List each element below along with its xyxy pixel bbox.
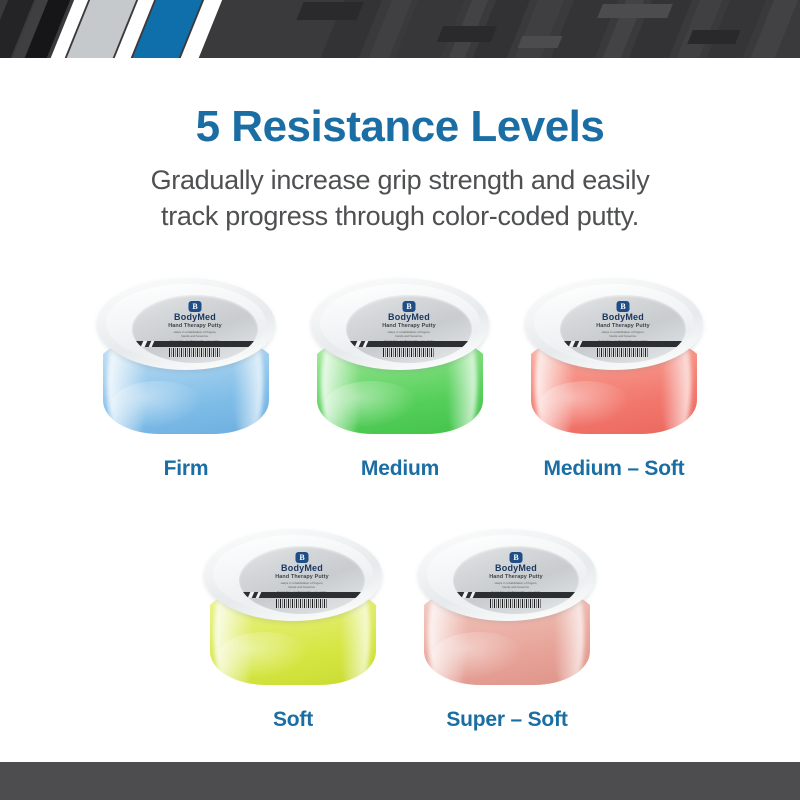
tub-rim-inner: B BodyMed Hand Therapy Putty Helps in re…: [320, 284, 480, 362]
putty-container-firm: B BodyMed Hand Therapy Putty Helps in re…: [97, 272, 275, 445]
barcode-icon: [383, 348, 435, 357]
tub-rim: B BodyMed Hand Therapy Putty Helps in re…: [418, 529, 596, 621]
tub-rim: B BodyMed Hand Therapy Putty Helps in re…: [311, 278, 489, 370]
tub-rim-inner: B BodyMed Hand Therapy Putty Helps in re…: [427, 535, 587, 613]
label-product-name: Hand Therapy Putty: [560, 323, 686, 329]
product-label: B BodyMed Hand Therapy Putty Helps in re…: [132, 295, 258, 363]
label-brand: BodyMed: [346, 312, 472, 322]
product-item-medium[interactable]: B BodyMed Hand Therapy Putty Helps in re…: [293, 272, 507, 481]
product-grid: B BodyMed Hand Therapy Putty Helps in re…: [0, 272, 800, 732]
product-label: B BodyMed Hand Therapy Putty Helps in re…: [346, 295, 472, 363]
label-dark-band: [564, 341, 682, 347]
product-item-medium-soft[interactable]: B BodyMed Hand Therapy Putty Helps in re…: [507, 272, 721, 481]
product-row-top: B BodyMed Hand Therapy Putty Helps in re…: [0, 272, 800, 481]
footer-bar: [0, 762, 800, 800]
barcode-icon: [276, 599, 328, 608]
label-brand: BodyMed: [453, 563, 579, 573]
header-texture-block: [597, 4, 673, 18]
label-product-name: Hand Therapy Putty: [239, 574, 365, 580]
bodymed-logo-icon: B: [617, 301, 630, 312]
bodymed-logo-icon: B: [296, 552, 309, 563]
putty-container-medium-soft: B BodyMed Hand Therapy Putty Helps in re…: [525, 272, 703, 445]
tub-rim: B BodyMed Hand Therapy Putty Helps in re…: [525, 278, 703, 370]
product-item-soft[interactable]: B BodyMed Hand Therapy Putty Helps in re…: [186, 523, 400, 732]
product-caption-super-soft: Super – Soft: [446, 708, 567, 732]
tub-rim-inner: B BodyMed Hand Therapy Putty Helps in re…: [213, 535, 373, 613]
putty-container-soft: B BodyMed Hand Therapy Putty Helps in re…: [204, 523, 382, 696]
header-texture-block: [437, 26, 497, 42]
header-texture-block: [296, 2, 363, 20]
label-dark-band: [243, 592, 361, 598]
product-item-firm[interactable]: B BodyMed Hand Therapy Putty Helps in re…: [79, 272, 293, 481]
label-product-name: Hand Therapy Putty: [132, 323, 258, 329]
tub-rim: B BodyMed Hand Therapy Putty Helps in re…: [97, 278, 275, 370]
title-area: 5 Resistance Levels Gradually increase g…: [0, 58, 800, 234]
subtitle-line-2: track progress through color-coded putty…: [0, 199, 800, 235]
product-caption-firm: Firm: [164, 457, 209, 481]
subtitle-line-1: Gradually increase grip strength and eas…: [0, 163, 800, 199]
barcode-icon: [169, 348, 221, 357]
label-brand: BodyMed: [239, 563, 365, 573]
tub-rim-inner: B BodyMed Hand Therapy Putty Helps in re…: [534, 284, 694, 362]
putty-container-super-soft: B BodyMed Hand Therapy Putty Helps in re…: [418, 523, 596, 696]
bodymed-logo-icon: B: [403, 301, 416, 312]
label-dark-band: [457, 592, 575, 598]
barcode-icon: [490, 599, 542, 608]
product-item-super-soft[interactable]: B BodyMed Hand Therapy Putty Helps in re…: [400, 523, 614, 732]
label-brand: BodyMed: [132, 312, 258, 322]
barcode-icon: [597, 348, 649, 357]
label-product-name: Hand Therapy Putty: [346, 323, 472, 329]
page-title: 5 Resistance Levels: [0, 58, 800, 150]
page-subtitle: Gradually increase grip strength and eas…: [0, 150, 800, 234]
product-caption-medium-soft: Medium – Soft: [544, 457, 685, 481]
label-dark-band: [350, 341, 468, 347]
product-label: B BodyMed Hand Therapy Putty Helps in re…: [560, 295, 686, 363]
bodymed-logo-icon: B: [510, 552, 523, 563]
label-brand: BodyMed: [560, 312, 686, 322]
product-label: B BodyMed Hand Therapy Putty Helps in re…: [453, 546, 579, 614]
header-banner: [0, 0, 800, 58]
label-product-name: Hand Therapy Putty: [453, 574, 579, 580]
product-row-bottom: B BodyMed Hand Therapy Putty Helps in re…: [0, 523, 800, 732]
tub-rim-inner: B BodyMed Hand Therapy Putty Helps in re…: [106, 284, 266, 362]
product-caption-soft: Soft: [273, 708, 313, 732]
label-dark-band: [136, 341, 254, 347]
product-caption-medium: Medium: [361, 457, 439, 481]
bodymed-logo-icon: B: [189, 301, 202, 312]
putty-container-medium: B BodyMed Hand Therapy Putty Helps in re…: [311, 272, 489, 445]
header-texture-block: [518, 36, 563, 48]
header-texture-block: [687, 30, 741, 44]
tub-rim: B BodyMed Hand Therapy Putty Helps in re…: [204, 529, 382, 621]
product-label: B BodyMed Hand Therapy Putty Helps in re…: [239, 546, 365, 614]
